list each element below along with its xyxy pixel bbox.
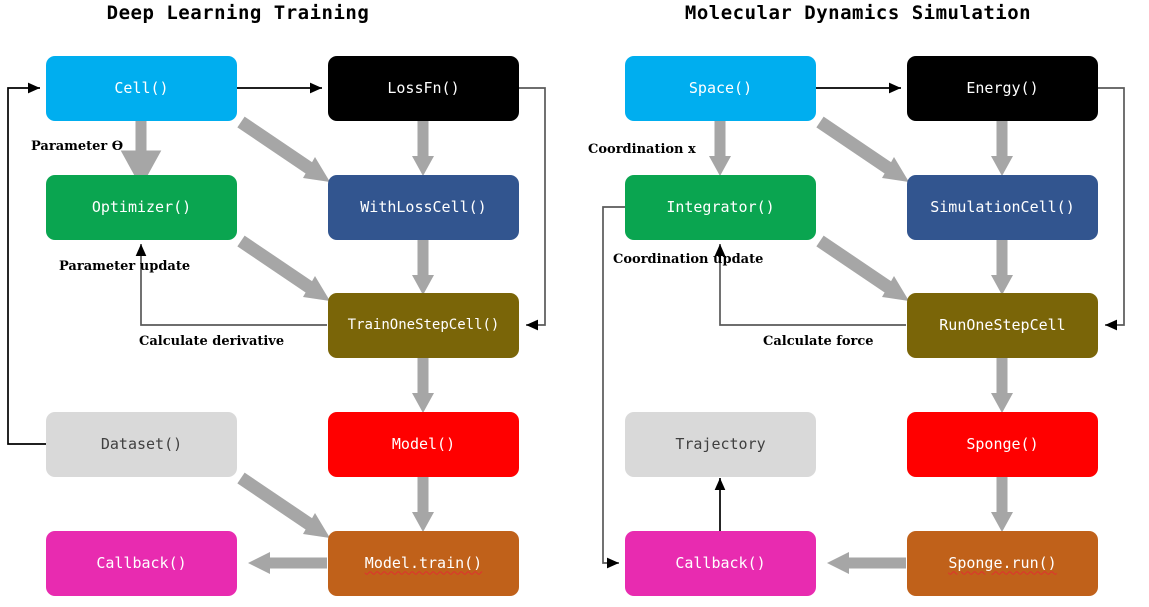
node-sponge-run[interactable]: Sponge.run() [907, 531, 1098, 596]
panel-title-molecular-dynamics-simulation: Molecular Dynamics Simulation [618, 2, 1098, 24]
node-energy[interactable]: Energy() [907, 56, 1098, 121]
edge-energy-to-runonestepcell [1098, 88, 1124, 325]
node-model[interactable]: Model() [328, 412, 519, 477]
thick-edge-lossfn-to-withlosscell [412, 121, 434, 176]
node-callback-left-label: Callback() [96, 555, 186, 572]
node-energy-label: Energy() [966, 80, 1038, 97]
thick-edge-optimizer-to-trainonestepcell [241, 241, 330, 301]
node-optimizer[interactable]: Optimizer() [46, 175, 237, 240]
thick-edge-cell-to-withlosscell [241, 122, 330, 182]
node-cell[interactable]: Cell() [46, 56, 237, 121]
node-sponge-label: Sponge() [966, 436, 1038, 453]
node-space-label: Space() [689, 80, 752, 97]
node-lossfn-label: LossFn() [387, 80, 459, 97]
node-cell-label: Cell() [114, 80, 168, 97]
thick-edge-model-to-model-train [412, 477, 434, 532]
node-integrator-label: Integrator() [666, 199, 774, 216]
thick-edge-integrator-to-runonestepcell [820, 241, 909, 301]
node-model-train[interactable]: Model.train() [328, 531, 519, 596]
node-callback-right-label: Callback() [675, 555, 765, 572]
node-callback-left[interactable]: Callback() [46, 531, 237, 596]
edge-label-calculate-force: Calculate force [763, 334, 874, 349]
thick-edge-sponge-run-to-callback [827, 552, 906, 574]
thick-edge-cell-to-optimizer [130, 121, 152, 176]
node-withlosscell[interactable]: WithLossCell() [328, 175, 519, 240]
edge-label-coordination-x: Coordination x [588, 142, 696, 157]
panel-title-deep-learning-training: Deep Learning Training [48, 2, 428, 24]
node-withlosscell-label: WithLossCell() [360, 199, 486, 216]
node-integrator[interactable]: Integrator() [625, 175, 816, 240]
node-optimizer-label: Optimizer() [92, 199, 191, 216]
thick-edge-model-train-to-callback [248, 552, 327, 574]
node-simulationcell[interactable]: SimulationCell() [907, 175, 1098, 240]
node-sponge[interactable]: Sponge() [907, 412, 1098, 477]
node-callback-right[interactable]: Callback() [625, 531, 816, 596]
thick-edge-sponge-to-sponge-run [991, 477, 1013, 532]
node-space[interactable]: Space() [625, 56, 816, 121]
node-trajectory[interactable]: Trajectory [625, 412, 816, 477]
edge-label-parameter-theta: Parameter ϴ [31, 139, 123, 154]
node-trajectory-label: Trajectory [675, 436, 765, 453]
node-dataset[interactable]: Dataset() [46, 412, 237, 477]
node-simulationcell-label: SimulationCell() [930, 199, 1075, 216]
node-lossfn[interactable]: LossFn() [328, 56, 519, 121]
edge-label-coordination-update: Coordination update [613, 252, 763, 267]
edge-label-parameter-update: Parameter update [59, 259, 190, 274]
thick-edge-simulationcell-to-runonestepcell [991, 240, 1013, 295]
thick-edge-space-to-simulationcell [820, 122, 909, 182]
edge-trainonestepcell-to-optimizer [141, 244, 327, 325]
node-sponge-run-label: Sponge.run() [948, 555, 1056, 572]
node-dataset-label: Dataset() [101, 436, 182, 453]
node-trainonestepcell-label: TrainOneStepCell() [348, 318, 500, 333]
node-model-label: Model() [392, 436, 455, 453]
thick-edge-withlosscell-to-trainonestepcell [412, 240, 434, 295]
thick-edge-trainonestepcell-to-model [412, 358, 434, 413]
node-runonestepcell[interactable]: RunOneStepCell [907, 293, 1098, 358]
thick-edge-energy-to-simulationcell [991, 121, 1013, 176]
edge-lossfn-to-trainonestepcell [519, 88, 545, 325]
diagram-canvas: Deep Learning Training Molecular Dynamic… [0, 0, 1149, 607]
thick-edge-space-to-integrator [709, 121, 731, 176]
node-model-train-label: Model.train() [365, 555, 482, 572]
node-trainonestepcell[interactable]: TrainOneStepCell() [328, 293, 519, 358]
edge-label-calculate-derivative: Calculate derivative [139, 334, 284, 349]
node-runonestepcell-label: RunOneStepCell [939, 317, 1065, 334]
thick-edge-runonestepcell-to-sponge [991, 358, 1013, 413]
thick-edge-dataset-to-model-train [241, 478, 330, 538]
